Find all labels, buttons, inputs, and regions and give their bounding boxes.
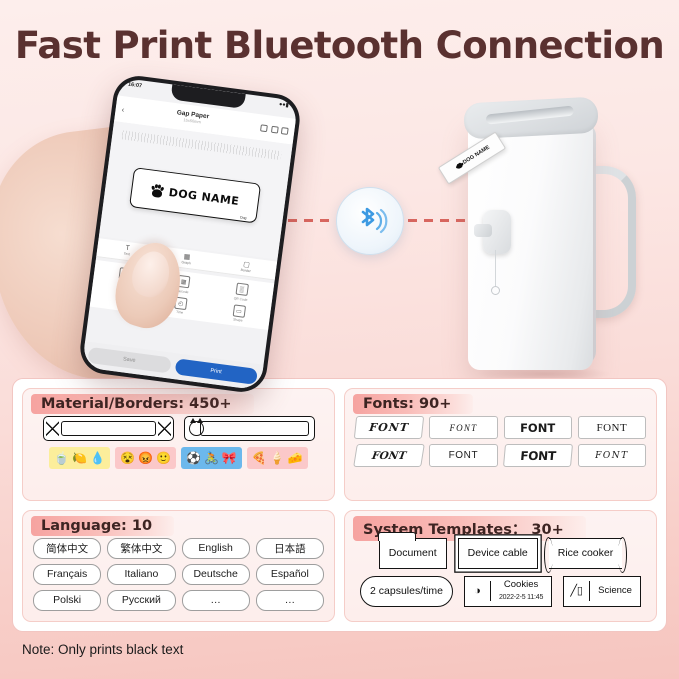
template-cookies-label: Cookies bbox=[499, 579, 543, 591]
printer-latch-knob bbox=[483, 210, 511, 254]
font-sample[interactable]: FONT bbox=[502, 444, 572, 467]
droplet-icon: 💧 bbox=[90, 452, 105, 464]
printer-top-cap bbox=[463, 97, 599, 140]
language-item[interactable]: Español bbox=[256, 564, 324, 585]
material-title: Material/Borders: 450+ bbox=[31, 394, 254, 414]
ball-icon: ⚽ bbox=[186, 452, 201, 464]
feature-panel: Material/Borders: 450+ 🍵 🍋 💧 bbox=[12, 378, 667, 632]
sticker-swatch-row: 🍵 🍋 💧 😵 😡 🙂 ⚽ 🚴 🎀 🍕 🍦 🧀 bbox=[33, 447, 324, 469]
thumbnail-nail bbox=[127, 247, 174, 301]
template-cookies-date: 2022-2-5 11:45 bbox=[499, 594, 543, 601]
footer-note: Note: Only prints black text bbox=[22, 642, 183, 657]
emoji-swatch[interactable]: 😵 😡 🙂 bbox=[115, 447, 176, 469]
font-sample[interactable]: FONT bbox=[429, 416, 497, 439]
material-card: Material/Borders: 450+ 🍵 🍋 💧 bbox=[22, 388, 335, 501]
tool-item-qrcode[interactable]: ▒QR Code bbox=[211, 279, 271, 304]
fonts-card: Fonts: 90+ FONT FONT FONT FONT FONT FONT… bbox=[344, 388, 657, 501]
places-swatch[interactable]: 🍕 🍦 🧀 bbox=[247, 447, 308, 469]
status-icons: ●●▮ bbox=[279, 102, 289, 109]
icecream-icon: 🍦 bbox=[270, 452, 285, 464]
language-title: Language: 10 bbox=[31, 516, 174, 536]
paw-print-icon bbox=[455, 163, 462, 170]
language-item[interactable]: 简体中文 bbox=[33, 538, 101, 559]
font-sample[interactable]: FONT bbox=[354, 416, 425, 439]
label-subtag: Dog bbox=[240, 215, 247, 220]
dizzy-face-icon: 😵 bbox=[120, 452, 135, 464]
scooter-icon: 🚴 bbox=[204, 452, 219, 464]
more-icon[interactable] bbox=[281, 127, 289, 135]
font-sample-grid: FONT FONT FONT FONT FONT FONT FONT FONT bbox=[355, 416, 646, 467]
font-sample[interactable]: FONT bbox=[504, 416, 572, 439]
fonts-title: Fonts: 90+ bbox=[353, 394, 473, 414]
label-printer-device: DOG NAME bbox=[460, 94, 640, 394]
language-item[interactable]: Deutsche bbox=[182, 564, 250, 585]
label-canvas[interactable]: DOG NAME Dog bbox=[99, 121, 293, 260]
template-science[interactable]: ╱▯ Science bbox=[563, 576, 641, 607]
language-item[interactable]: Français bbox=[33, 564, 101, 585]
connection-dashes-left bbox=[288, 219, 334, 222]
crop-icon[interactable] bbox=[260, 124, 268, 132]
template-cookies[interactable]: ◑ Cookies 2022-2-5 11:45 bbox=[464, 576, 552, 607]
tool-item-shape[interactable]: ▭Shape bbox=[209, 301, 269, 326]
language-item[interactable]: … bbox=[182, 590, 250, 611]
save-icon[interactable] bbox=[270, 125, 278, 133]
paw-print-icon bbox=[150, 183, 165, 198]
template-device-cable[interactable]: Device cable bbox=[458, 538, 538, 569]
template-science-label: Science bbox=[598, 585, 632, 597]
hero-section: 16:07 ●●▮ ‹ Gap Paper 15x50mm bbox=[0, 74, 679, 374]
bluetooth-icon bbox=[350, 201, 390, 241]
app-subtitle: 15x50mm bbox=[183, 117, 201, 124]
language-item[interactable]: English bbox=[182, 538, 250, 559]
food-swatch[interactable]: 🍵 🍋 💧 bbox=[49, 447, 110, 469]
candy-wrapper-border[interactable] bbox=[43, 416, 174, 441]
label-preview[interactable]: DOG NAME Dog bbox=[129, 167, 261, 223]
toy-swatch[interactable]: ⚽ 🚴 🎀 bbox=[181, 447, 242, 469]
power-button[interactable] bbox=[491, 286, 500, 295]
paper-output-slot bbox=[486, 105, 575, 124]
smile-face-icon: 🙂 bbox=[156, 452, 171, 464]
angry-face-icon: 😡 bbox=[138, 452, 153, 464]
language-item[interactable]: 繁体中文 bbox=[107, 538, 175, 559]
font-sample[interactable]: FONT bbox=[578, 416, 646, 439]
shape-icon: ▭ bbox=[232, 304, 245, 317]
language-item[interactable]: 日本語 bbox=[256, 538, 324, 559]
templates-card: System Templates： 30+ Document Device ca… bbox=[344, 510, 657, 623]
save-button[interactable]: Save bbox=[87, 347, 171, 374]
phone-device: 16:07 ●●▮ ‹ Gap Paper 15x50mm bbox=[77, 73, 303, 395]
template-document[interactable]: Document bbox=[379, 538, 447, 569]
cookie-icon: ◑ bbox=[465, 581, 491, 601]
status-time: 16:07 bbox=[128, 82, 143, 90]
lemon-icon: 🍋 bbox=[72, 452, 87, 464]
test-tube-icon: ╱▯ bbox=[564, 581, 590, 601]
language-item[interactable]: Italiano bbox=[107, 564, 175, 585]
font-sample[interactable]: FONT bbox=[353, 444, 425, 467]
print-button[interactable]: Print bbox=[174, 358, 258, 385]
language-grid: 简体中文 繁体中文 English 日本語 Français Italiano … bbox=[33, 538, 324, 611]
language-item[interactable]: Polski bbox=[33, 590, 101, 611]
language-card: Language: 10 简体中文 繁体中文 English 日本語 Franç… bbox=[22, 510, 335, 623]
template-row-1: Document Device cable Rice cooker bbox=[355, 538, 646, 569]
printer-seam-line bbox=[495, 250, 496, 286]
font-sample[interactable]: FONT bbox=[429, 444, 497, 467]
template-row-2: 2 capsules/time ◑ Cookies 2022-2-5 11:45… bbox=[355, 576, 646, 607]
steak-icon: 🍵 bbox=[54, 452, 69, 464]
pizza-icon: 🍕 bbox=[252, 452, 267, 464]
page-title: Fast Print Bluetooth Connection bbox=[0, 24, 679, 67]
bluetooth-badge bbox=[336, 187, 404, 255]
tool-tab-border[interactable]: ▢Border bbox=[216, 257, 277, 277]
language-item[interactable]: … bbox=[256, 590, 324, 611]
phone-screen: 16:07 ●●▮ ‹ Gap Paper 15x50mm bbox=[82, 78, 299, 391]
cat-face-border[interactable] bbox=[184, 416, 315, 441]
pinwheel-icon: 🎀 bbox=[222, 452, 237, 464]
font-sample[interactable]: FONT bbox=[578, 444, 646, 467]
template-rice-cooker[interactable]: Rice cooker bbox=[549, 538, 622, 569]
app-bar-actions[interactable] bbox=[260, 124, 289, 135]
cheese-icon: 🧀 bbox=[288, 452, 303, 464]
label-text: DOG NAME bbox=[168, 185, 240, 207]
qr-code-icon: ▒ bbox=[235, 283, 248, 296]
template-capsules[interactable]: 2 capsules/time bbox=[360, 576, 453, 607]
language-item[interactable]: Русский bbox=[107, 590, 175, 611]
wrapper-right-icon bbox=[158, 418, 171, 439]
border-template-row bbox=[33, 416, 324, 441]
wrapper-left-icon bbox=[46, 418, 59, 439]
